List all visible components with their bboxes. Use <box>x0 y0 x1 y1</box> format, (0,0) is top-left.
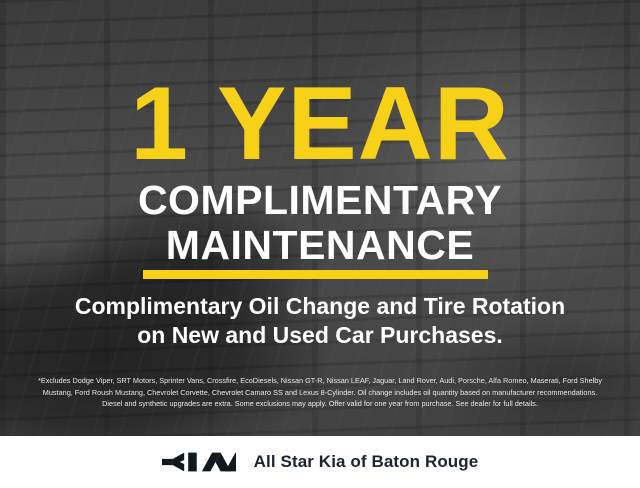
hero-content: 1 YEAR COMPLIMENTARY MAINTENANCE Complim… <box>0 0 640 436</box>
dealer-name: All Star Kia of Baton Rouge <box>254 452 479 472</box>
subheadline-line-2: on New and Used Car Purchases. <box>0 321 640 350</box>
subheadline: Complimentary Oil Change and Tire Rotati… <box>0 292 640 350</box>
subheadline-line-1: Complimentary Oil Change and Tire Rotati… <box>0 292 640 321</box>
headline-year: 1 YEAR <box>0 72 640 176</box>
headline-maintenance: MAINTENANCE <box>0 225 640 266</box>
disclaimer-line-1: *Excludes Dodge Viper, SRT Motors, Sprin… <box>14 375 626 387</box>
footer-bar: All Star Kia of Baton Rouge <box>0 436 640 488</box>
headline-complimentary: COMPLIMENTARY <box>0 180 640 221</box>
disclaimer-line-2: Mustang, Ford Roush Mustang, Chevrolet C… <box>14 387 626 399</box>
promotional-banner: 1 YEAR COMPLIMENTARY MAINTENANCE Complim… <box>0 0 640 488</box>
accent-divider-bar <box>143 270 488 279</box>
disclaimer-text: *Excludes Dodge Viper, SRT Motors, Sprin… <box>14 375 626 410</box>
hero-section: 1 YEAR COMPLIMENTARY MAINTENANCE Complim… <box>0 0 640 436</box>
disclaimer-line-3: Diesel and synthetic upgrades are extra.… <box>14 398 626 410</box>
kia-logo-icon <box>162 452 236 472</box>
